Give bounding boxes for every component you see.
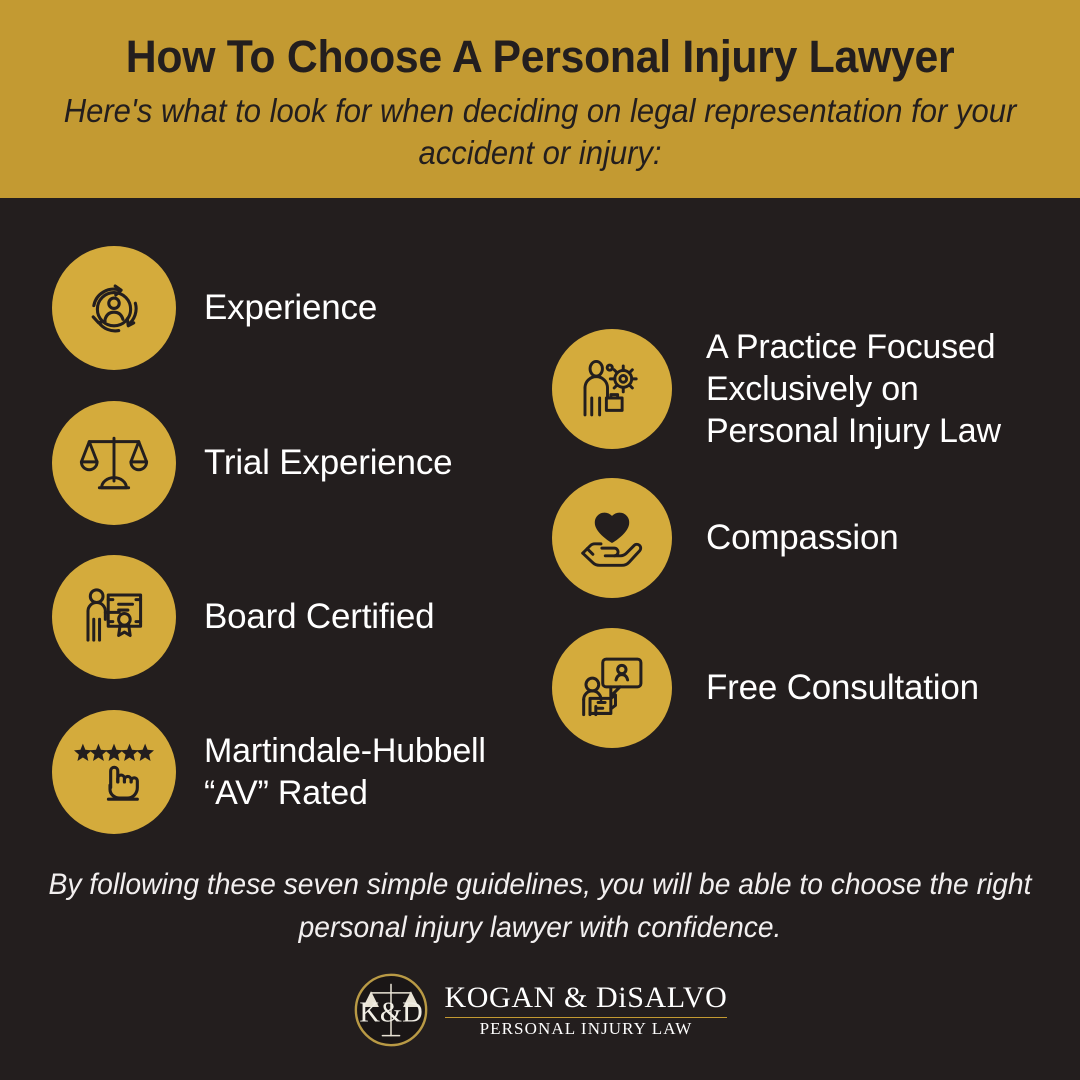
- closing-statement: By following these seven simple guidelin…: [32, 864, 1047, 949]
- list-item-board-certified: Board Certified: [52, 555, 434, 679]
- list-item-label: Martindale-Hubbell “AV” Rated: [204, 730, 486, 814]
- list-item-martindale-hubbell: Martindale-Hubbell “AV” Rated: [52, 710, 486, 834]
- kogan-disalvo-seal-icon: K&D: [353, 972, 429, 1048]
- five-stars-pointing-hand-icon: [52, 710, 176, 834]
- header-band: How To Choose A Personal Injury Lawyer H…: [0, 0, 1080, 198]
- brand-logo: K&D KOGAN & DiSALVO PERSONAL INJURY LAW: [0, 972, 1080, 1048]
- person-speech-bubble-icon: [552, 628, 672, 748]
- brand-name: KOGAN & DiSALVO: [445, 982, 728, 1014]
- svg-text:K&D: K&D: [359, 997, 422, 1028]
- brand-tagline: PERSONAL INJURY LAW: [480, 1020, 693, 1038]
- list-item-practice-focused: A Practice Focused Exclusively on Person…: [552, 326, 1001, 452]
- list-item-label: Compassion: [706, 517, 899, 559]
- list-item-label: Trial Experience: [204, 442, 452, 484]
- list-item-label: A Practice Focused Exclusively on Person…: [706, 326, 1001, 452]
- person-briefcase-gear-icon: [552, 329, 672, 449]
- hand-holding-heart-icon: [552, 478, 672, 598]
- list-item-trial-experience: Trial Experience: [52, 401, 452, 525]
- page-title: How To Choose A Personal Injury Lawyer: [126, 34, 955, 80]
- brand-divider: [445, 1017, 728, 1019]
- person-refresh-cycle-icon: [52, 246, 176, 370]
- person-certificate-icon: [52, 555, 176, 679]
- list-item-free-consultation: Free Consultation: [552, 628, 979, 748]
- list-item-label: Experience: [204, 287, 377, 329]
- list-item-label: Free Consultation: [706, 667, 979, 709]
- page-subtitle: Here's what to look for when deciding on…: [61, 90, 1020, 174]
- list-item-compassion: Compassion: [552, 478, 899, 598]
- list-item-label: Board Certified: [204, 596, 434, 638]
- scales-of-justice-icon: [52, 401, 176, 525]
- list-item-experience: Experience: [52, 246, 377, 370]
- brand-wordmark: KOGAN & DiSALVO PERSONAL INJURY LAW: [445, 982, 728, 1038]
- infographic-root: How To Choose A Personal Injury Lawyer H…: [0, 0, 1080, 1080]
